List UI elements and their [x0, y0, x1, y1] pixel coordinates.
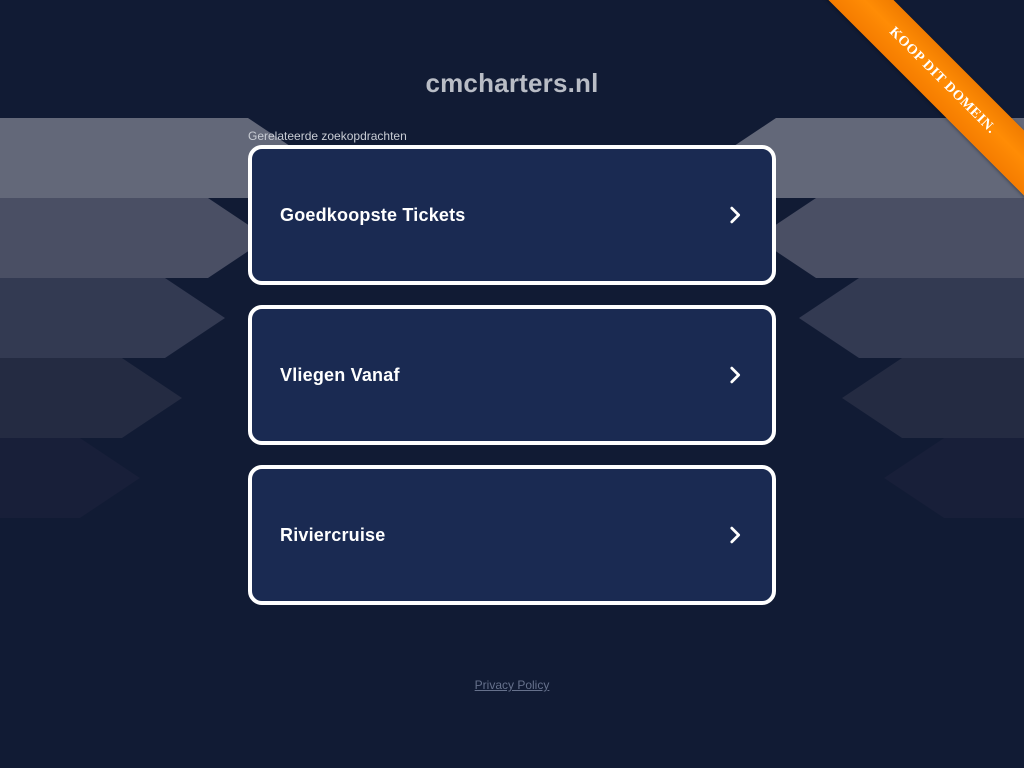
- privacy-policy-link[interactable]: Privacy Policy: [475, 678, 550, 692]
- chevron-right-icon: [724, 204, 746, 226]
- related-search-label: Vliegen Vanaf: [280, 365, 400, 386]
- page-root: cmcharters.nl Gerelateerde zoekopdrachte…: [0, 0, 1024, 768]
- chevron-right-icon: [724, 524, 746, 546]
- related-search-card[interactable]: Vliegen Vanaf: [248, 305, 776, 445]
- page-title: cmcharters.nl: [0, 68, 1024, 99]
- related-search-card[interactable]: Goedkoopste Tickets: [248, 145, 776, 285]
- related-searches-list: Goedkoopste TicketsVliegen VanafRiviercr…: [248, 145, 776, 605]
- chevron-right-icon: [724, 364, 746, 386]
- related-search-label: Riviercruise: [280, 525, 385, 546]
- related-search-card[interactable]: Riviercruise: [248, 465, 776, 605]
- footer: Privacy Policy: [0, 676, 1024, 694]
- related-searches-label: Gerelateerde zoekopdrachten: [248, 129, 407, 143]
- related-search-label: Goedkoopste Tickets: [280, 205, 466, 226]
